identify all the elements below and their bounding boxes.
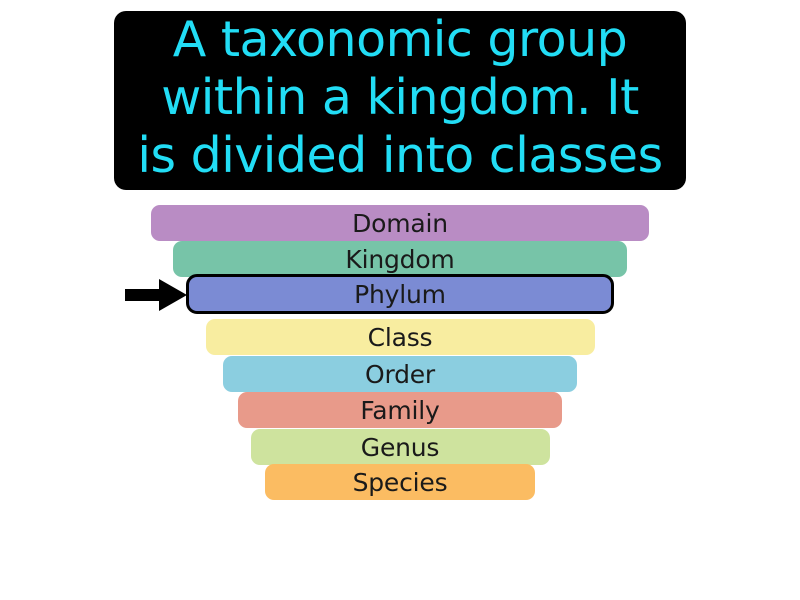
rank-label: Species (353, 470, 448, 495)
rank-bar-class[interactable]: Class (206, 319, 595, 355)
right-arrow-icon (125, 278, 191, 312)
rank-label: Kingdom (345, 247, 454, 272)
definition-banner: A taxonomic group within a kingdom. It i… (114, 11, 686, 190)
rank-bar-order[interactable]: Order (223, 356, 577, 392)
rank-row[interactable]: Order (0, 355, 800, 393)
rank-bar-domain[interactable]: Domain (151, 205, 649, 241)
rank-label: Family (360, 398, 439, 423)
taxonomy-pyramid: Domain Kingdom Phylum Class Order F (0, 200, 800, 500)
rank-label: Genus (361, 435, 439, 460)
rank-row[interactable]: Kingdom (0, 240, 800, 278)
rank-label: Domain (352, 211, 448, 236)
rank-label: Class (368, 325, 433, 350)
rank-row[interactable]: Family (0, 391, 800, 429)
rank-row[interactable]: Genus (0, 428, 800, 466)
rank-row[interactable]: Phylum (0, 275, 800, 313)
rank-bar-phylum[interactable]: Phylum (186, 274, 614, 314)
rank-bar-genus[interactable]: Genus (251, 429, 550, 465)
rank-bar-family[interactable]: Family (238, 392, 562, 428)
rank-label: Phylum (354, 282, 446, 307)
rank-row[interactable]: Species (0, 463, 800, 501)
rank-row[interactable]: Class (0, 318, 800, 356)
rank-bar-kingdom[interactable]: Kingdom (173, 241, 627, 277)
definition-card: A taxonomic group within a kingdom. It i… (0, 0, 800, 600)
definition-text: A taxonomic group within a kingdom. It i… (124, 11, 676, 185)
rank-row[interactable]: Domain (0, 204, 800, 242)
rank-label: Order (365, 362, 435, 387)
rank-bar-species[interactable]: Species (265, 464, 535, 500)
